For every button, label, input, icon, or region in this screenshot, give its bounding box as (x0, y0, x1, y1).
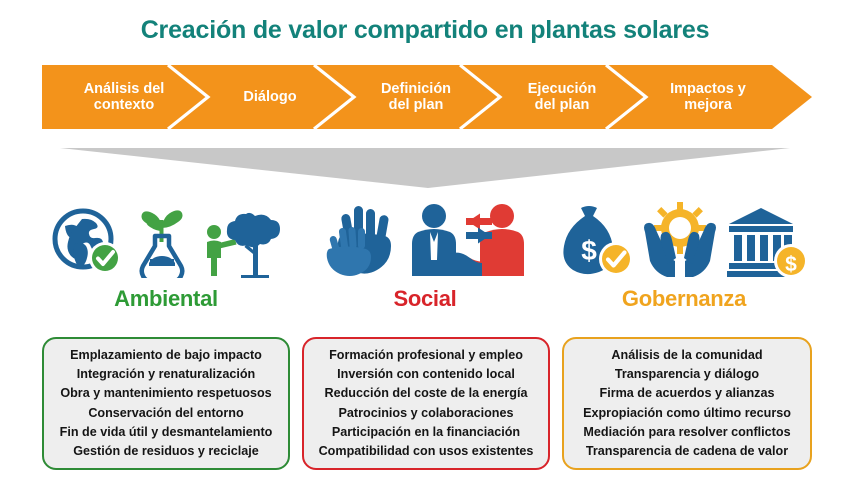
svg-text:$: $ (581, 235, 597, 266)
pillar-social-icons (287, 196, 563, 278)
money-bag-check-icon: $ (559, 202, 633, 278)
funnel-shape (60, 148, 790, 188)
list-item: Fin de vida útil y desmantelamiento (60, 423, 273, 442)
list-item: Reducción del coste de la energía (325, 384, 528, 403)
pillar-ambiental-icons (28, 196, 304, 278)
list-item: Firma de acuerdos y alianzas (600, 384, 775, 403)
list-item: Inversión con contenido local (337, 365, 515, 384)
list-item: Formación profesional y empleo (329, 346, 523, 365)
pillar-gobernanza-name: Gobernanza (546, 286, 822, 312)
list-item: Gestión de residuos y reciclaje (73, 442, 259, 461)
helping-hands-icon (324, 204, 402, 278)
hands-sun-icon (639, 202, 721, 278)
globe-check-icon (51, 206, 125, 278)
list-item: Análisis de la comunidad (611, 346, 762, 365)
list-item: Participación en la financiación (332, 423, 520, 442)
bank-coin-icon: $ (727, 206, 809, 278)
pillar-ambiental: Ambiental (28, 196, 304, 312)
list-item: Compatibilidad con usos existentes (319, 442, 534, 461)
pillar-gobernanza-icons: $ (546, 196, 822, 278)
pillar-box-ambiental: Emplazamiento de bajo impacto Integració… (42, 337, 290, 470)
list-item: Transparencia y diálogo (615, 365, 759, 384)
list-item: Expropiación como último recurso (583, 404, 791, 423)
list-item: Patrocinios y colaboraciones (339, 404, 514, 423)
flask-plant-icon (131, 200, 193, 278)
process-band-shape (42, 65, 812, 129)
handshake-exchange-icon (408, 202, 526, 278)
list-item: Integración y renaturalización (77, 365, 255, 384)
svg-text:$: $ (785, 253, 797, 276)
list-item: Mediación para resolver conflictos (583, 423, 790, 442)
list-item: Obra y mantenimiento respetuosos (60, 384, 271, 403)
person-tree-icon (199, 204, 281, 278)
pillar-box-social: Formación profesional y empleo Inversión… (302, 337, 550, 470)
pillar-ambiental-name: Ambiental (28, 286, 304, 312)
list-item: Conservación del entorno (88, 404, 243, 423)
list-item: Transparencia de cadena de valor (586, 442, 788, 461)
process-arrow-band: Análisis del contexto Diálogo Definición… (42, 65, 812, 129)
page-title: Creación de valor compartido en plantas … (0, 16, 850, 45)
infographic-root: Creación de valor compartido en plantas … (0, 0, 850, 500)
pillar-social-name: Social (287, 286, 563, 312)
pillar-gobernanza: $ (546, 196, 822, 312)
funnel-triangle (60, 148, 790, 190)
list-item: Emplazamiento de bajo impacto (70, 346, 262, 365)
pillar-box-gobernanza: Análisis de la comunidad Transparencia y… (562, 337, 812, 470)
pillar-social: Social (287, 196, 563, 312)
